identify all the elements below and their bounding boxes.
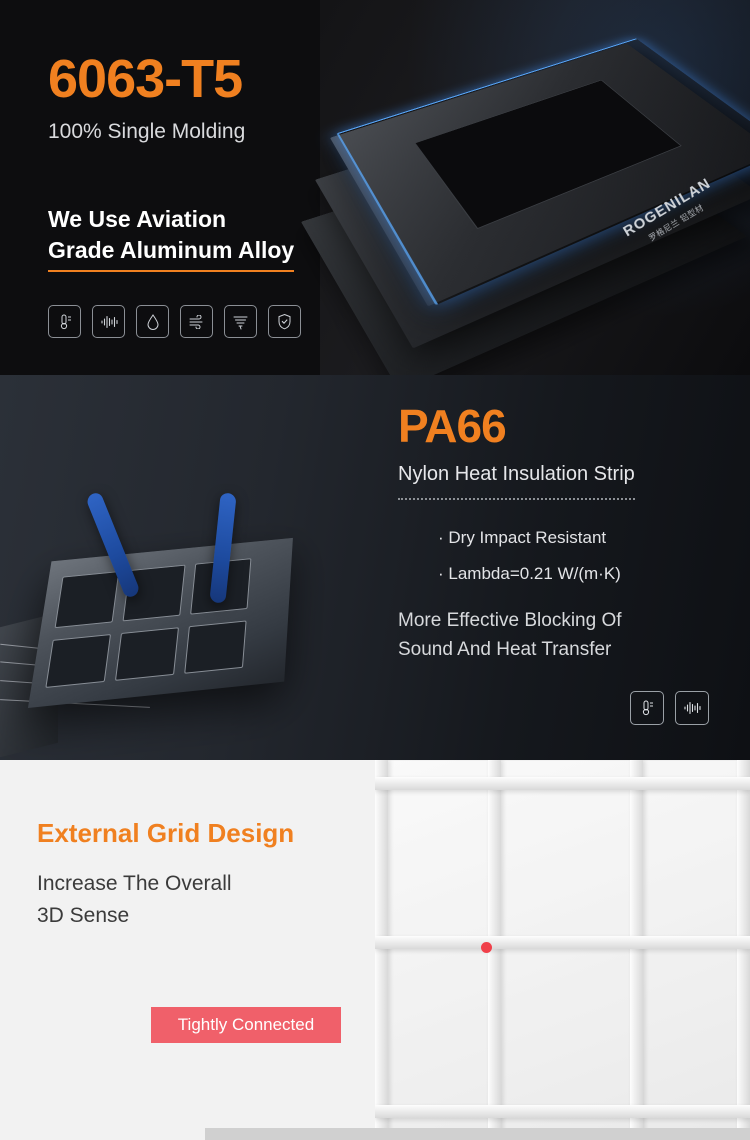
list-item: Dry Impact Resistant [438, 528, 728, 548]
nylon-paragraph: More Effective Blocking Of Sound And Hea… [398, 606, 728, 665]
alloy-grade-title: 6063-T5 [48, 52, 448, 106]
tightly-connected-callout: Tightly Connected [151, 1007, 341, 1043]
aviation-heading-line1: We Use Aviation [48, 204, 378, 235]
connection-point-marker [481, 942, 492, 953]
tornado-icon [224, 305, 257, 338]
panel2-text-block: PA66 Nylon Heat Insulation Strip Dry Imp… [398, 403, 728, 665]
thermometer-icon [630, 691, 664, 725]
product-feature-page: ROGENILAN 罗格尼兰 铝型材 6063-T5 100% Single M… [0, 0, 750, 1140]
nylon-paragraph-line2: Sound And Heat Transfer [398, 635, 728, 664]
profile-cavity [55, 571, 120, 628]
profile-cavity [184, 620, 246, 673]
panel1-feature-icons [48, 305, 301, 338]
panel2-feature-icons [630, 691, 709, 725]
profile-cavity [45, 634, 111, 688]
list-item: Lambda=0.21 W/(m·K) [438, 564, 728, 584]
water-drop-icon [136, 305, 169, 338]
panel-nylon-strip: PA66 Nylon Heat Insulation Strip Dry Imp… [0, 375, 750, 760]
shield-check-icon [268, 305, 301, 338]
panel1-text-block: 6063-T5 100% Single Molding [48, 52, 448, 144]
aviation-grade-heading: We Use Aviation Grade Aluminum Alloy [48, 204, 378, 272]
nylon-subtitle: Nylon Heat Insulation Strip [398, 463, 635, 500]
nylon-title: PA66 [398, 403, 728, 449]
wind-icon [180, 305, 213, 338]
profile-cavity [115, 627, 179, 681]
aviation-heading-line2: Grade Aluminum Alloy [48, 235, 294, 272]
sound-wave-icon [675, 691, 709, 725]
alloy-grade-subtitle: 100% Single Molding [48, 120, 448, 144]
nylon-strip-illustration [0, 405, 400, 760]
panel-external-grid [0, 760, 750, 1140]
sound-wave-icon [92, 305, 125, 338]
thermometer-icon [48, 305, 81, 338]
panel-aluminum-alloy: ROGENILAN 罗格尼兰 铝型材 6063-T5 100% Single M… [0, 0, 750, 375]
nylon-bullet-list: Dry Impact Resistant Lambda=0.21 W/(m·K) [398, 528, 728, 584]
nylon-paragraph-line1: More Effective Blocking Of [398, 606, 728, 635]
callout-connector [0, 760, 750, 1140]
aluminum-profile-cross-section [28, 538, 293, 708]
